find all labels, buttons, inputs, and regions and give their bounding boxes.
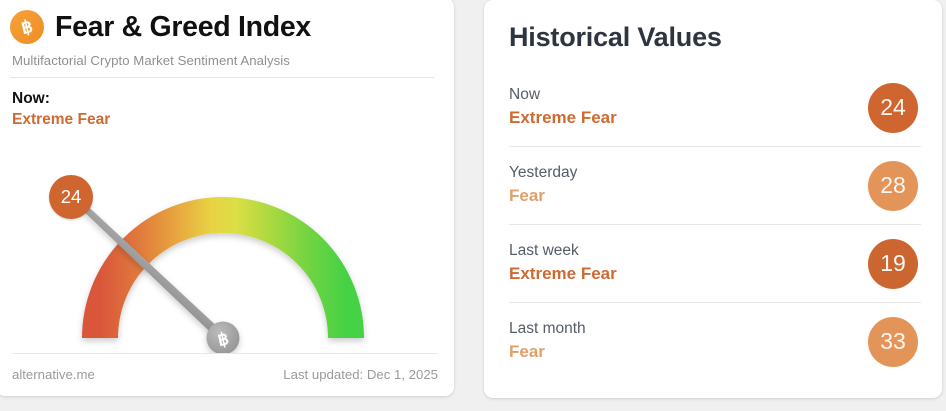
page-root: ฿ Fear & Greed Index Multifactorial Cryp… xyxy=(0,0,946,411)
history-classification: Fear xyxy=(509,342,586,362)
gauge-value-badge: 24 xyxy=(49,175,93,219)
history-period: Last month xyxy=(509,319,586,338)
gauge-svg: ฿ xyxy=(0,138,454,353)
page-subtitle: Multifactorial Crypto Market Sentiment A… xyxy=(12,53,436,68)
header-divider xyxy=(10,77,434,78)
history-value: 28 xyxy=(880,172,906,199)
historical-card-inner: Historical Values Now Extreme Fear 24 Ye… xyxy=(484,0,942,398)
source-link[interactable]: alternative.me xyxy=(12,367,95,382)
list-item[interactable]: Last week Extreme Fear 19 xyxy=(509,225,921,303)
gauge-arc xyxy=(100,215,346,338)
gauge-chart: ฿ 24 xyxy=(0,138,454,353)
historical-values-card: Historical Values Now Extreme Fear 24 Ye… xyxy=(484,0,942,398)
history-text-group: Last week Extreme Fear xyxy=(509,241,617,287)
status-badge: 19 xyxy=(868,239,918,289)
history-text-group: Now Extreme Fear xyxy=(509,85,617,131)
history-classification: Extreme Fear xyxy=(509,264,617,284)
history-period: Yesterday xyxy=(509,163,577,182)
history-classification: Fear xyxy=(509,186,577,206)
gauge-hub: ฿ xyxy=(207,322,240,354)
last-updated-text: Last updated: Dec 1, 2025 xyxy=(283,367,438,382)
history-text-group: Last month Fear xyxy=(509,319,586,365)
fear-greed-gauge-card: ฿ Fear & Greed Index Multifactorial Cryp… xyxy=(0,0,454,396)
page-title: Fear & Greed Index xyxy=(55,13,311,42)
card-footer: alternative.me Last updated: Dec 1, 2025 xyxy=(12,353,438,382)
history-classification: Extreme Fear xyxy=(509,108,617,128)
history-period: Now xyxy=(509,85,617,104)
status-badge: 33 xyxy=(868,317,918,367)
history-period: Last week xyxy=(509,241,617,260)
historical-title: Historical Values xyxy=(509,24,921,51)
history-text-group: Yesterday Fear xyxy=(509,163,577,209)
history-value: 19 xyxy=(880,250,906,277)
list-item[interactable]: Now Extreme Fear 24 xyxy=(509,69,921,147)
gauge-value-text: 24 xyxy=(61,186,82,208)
footer-divider xyxy=(12,353,438,354)
list-item[interactable]: Yesterday Fear 28 xyxy=(509,147,921,225)
status-badge: 24 xyxy=(868,83,918,133)
list-item[interactable]: Last month Fear 33 xyxy=(509,303,921,380)
now-label: Now: xyxy=(12,90,436,108)
status-badge: 28 xyxy=(868,161,918,211)
card-title-row: ฿ Fear & Greed Index xyxy=(10,10,436,44)
bitcoin-icon: ฿ xyxy=(10,10,44,44)
footer-row: alternative.me Last updated: Dec 1, 2025 xyxy=(12,367,438,382)
history-value: 24 xyxy=(880,94,906,121)
now-classification: Extreme Fear xyxy=(12,111,436,129)
history-value: 33 xyxy=(880,328,906,355)
gauge-card-inner: ฿ Fear & Greed Index Multifactorial Cryp… xyxy=(0,0,454,396)
svg-text:฿: ฿ xyxy=(19,16,34,38)
historical-list: Now Extreme Fear 24 Yesterday Fear 28 xyxy=(509,69,921,380)
